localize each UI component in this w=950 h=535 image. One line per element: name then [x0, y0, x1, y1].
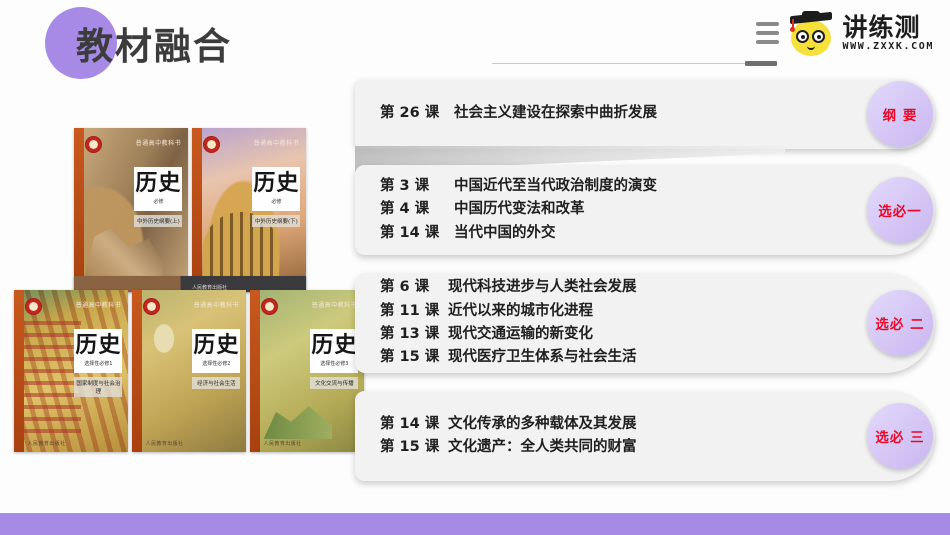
- textbook-volume: 文化交流与传播: [310, 377, 358, 389]
- status-badge: 选必 三: [867, 403, 933, 469]
- textbook-title: 历史: [311, 335, 357, 357]
- header-divider: [492, 63, 777, 64]
- textbook-publisher: 人民教育出版社: [264, 440, 302, 447]
- lesson-number: 第 3 课: [380, 175, 454, 198]
- lesson-title: 文化传承的多种载体及其发展: [448, 413, 637, 436]
- lesson-title: 现代交通运输的新变化: [448, 323, 593, 346]
- course-card[interactable]: 第 26 课 社会主义建设在探索中曲折发展 纲 要: [355, 79, 935, 149]
- course-line: 第 15 课 现代医疗卫生体系与社会生活: [380, 346, 935, 369]
- lesson-number: 第 15 课: [380, 436, 448, 459]
- textbook-cover: 普通高中教科书 历史 必修 中外历史纲要(下) 人民教育出版社: [192, 128, 306, 290]
- lesson-title: 现代医疗卫生体系与社会生活: [448, 346, 637, 369]
- course-line: 第 3 课 中国近代至当代政治制度的演变: [380, 175, 935, 198]
- course-line: 第 11 课 近代以来的城市化进程: [380, 300, 935, 323]
- textbook-collage: 普通高中教科书 历史 必修 中外历史纲要(上) 人民教育出版社 普通高中教科书 …: [12, 128, 352, 453]
- lesson-title: 当代中国的外交: [454, 222, 556, 245]
- textbook-level: 选择性必修1: [84, 360, 112, 367]
- textbook-cover: 普通高中教科书 历史 选择性必修3 文化交流与传播 人民教育出版社: [250, 290, 364, 452]
- textbook-cover: 普通高中教科书 历史 选择性必修2 经济与社会生活 人民教育出版社: [132, 290, 246, 452]
- textbook-publisher: 人民教育出版社: [28, 440, 66, 447]
- course-card-lines: 第 3 课 中国近代至当代政治制度的演变 第 4 课 中国历代变法和改革 第 1…: [380, 175, 935, 245]
- lesson-number: 第 6 课: [380, 276, 448, 299]
- textbook-series: 普通高中教科书: [309, 300, 359, 309]
- course-line: 第 4 课 中国历代变法和改革: [380, 198, 935, 221]
- course-line: 第 6 课 现代科技进步与人类社会发展: [380, 276, 935, 299]
- textbook-series: 普通高中教科书: [251, 138, 301, 147]
- textbook-level: 必修: [271, 198, 281, 205]
- textbook-title: 历史: [193, 335, 239, 357]
- page-title: 教材融合: [76, 16, 232, 70]
- lesson-number: 第 4 课: [380, 198, 454, 221]
- course-line: 第 13 课 现代交通运输的新变化: [380, 323, 935, 346]
- lesson-number: 第 13 课: [380, 323, 448, 346]
- hamburger-icon[interactable]: [756, 22, 779, 44]
- course-card[interactable]: 第 3 课 中国近代至当代政治制度的演变 第 4 课 中国历代变法和改革 第 1…: [355, 165, 935, 255]
- course-card-lines: 第 26 课 社会主义建设在探索中曲折发展: [380, 102, 935, 125]
- lesson-number: 第 26 课: [380, 102, 454, 125]
- brand-name: 讲练测: [843, 15, 934, 40]
- header-divider-cap: [745, 61, 777, 66]
- course-line: 第 14 课 当代中国的外交: [380, 222, 935, 245]
- brand-logo: 讲练测 WWW.ZXXK.COM: [756, 10, 934, 56]
- textbook-title: 历史: [75, 335, 121, 357]
- textbook-publisher: 人民教育出版社: [146, 440, 184, 447]
- status-badge: 选必一: [867, 177, 933, 243]
- lesson-title: 近代以来的城市化进程: [448, 300, 593, 323]
- lesson-title: 社会主义建设在探索中曲折发展: [454, 102, 657, 125]
- textbook-cover: 普通高中教科书 历史 选择性必修1 国家制度与社会治理 人民教育出版社: [14, 290, 128, 452]
- lesson-number: 第 15 课: [380, 346, 448, 369]
- lesson-number: 第 14 课: [380, 413, 448, 436]
- course-card-lines: 第 14 课 文化传承的多种载体及其发展 第 15 课 文化遗产：全人类共同的财…: [380, 413, 935, 460]
- textbook-title: 历史: [253, 173, 299, 195]
- textbook-volume: 中外历史纲要(下): [252, 215, 300, 227]
- owl-graduate-icon: [788, 10, 834, 56]
- textbook-level: 选择性必修3: [320, 360, 348, 367]
- textbook-series: 普通高中教科书: [133, 138, 183, 147]
- status-badge: 选必 二: [867, 290, 933, 356]
- textbook-volume: 中外历史纲要(上): [134, 215, 182, 227]
- textbook-level: 选择性必修2: [202, 360, 230, 367]
- course-line: 第 14 课 文化传承的多种载体及其发展: [380, 413, 935, 436]
- lesson-title: 现代科技进步与人类社会发展: [448, 276, 637, 299]
- textbook-series: 普通高中教科书: [191, 300, 241, 309]
- textbook-cover: 普通高中教科书 历史 必修 中外历史纲要(上) 人民教育出版社: [74, 128, 188, 290]
- textbook-volume: 经济与社会生活: [192, 377, 240, 389]
- brand-url: WWW.ZXXK.COM: [843, 42, 934, 52]
- textbook-series: 普通高中教科书: [73, 300, 123, 309]
- textbook-title: 历史: [135, 173, 181, 195]
- lesson-title: 中国近代至当代政治制度的演变: [454, 175, 657, 198]
- status-badge: 纲 要: [867, 81, 933, 147]
- course-line: 第 15 课 文化遗产：全人类共同的财富: [380, 436, 935, 459]
- lesson-title: 中国历代变法和改革: [454, 198, 585, 221]
- lesson-number: 第 14 课: [380, 222, 454, 245]
- footer-bar: [0, 513, 950, 535]
- textbook-level: 必修: [153, 198, 163, 205]
- lesson-title: 文化遗产：全人类共同的财富: [448, 436, 637, 459]
- textbook-volume: 国家制度与社会治理: [74, 377, 122, 397]
- lesson-number: 第 11 课: [380, 300, 448, 323]
- course-card[interactable]: 第 14 课 文化传承的多种载体及其发展 第 15 课 文化遗产：全人类共同的财…: [355, 391, 935, 481]
- course-line: 第 26 课 社会主义建设在探索中曲折发展: [380, 102, 935, 125]
- course-card[interactable]: 第 6 课 现代科技进步与人类社会发展 第 11 课 近代以来的城市化进程 第 …: [355, 273, 935, 373]
- course-card-lines: 第 6 课 现代科技进步与人类社会发展 第 11 课 近代以来的城市化进程 第 …: [380, 276, 935, 370]
